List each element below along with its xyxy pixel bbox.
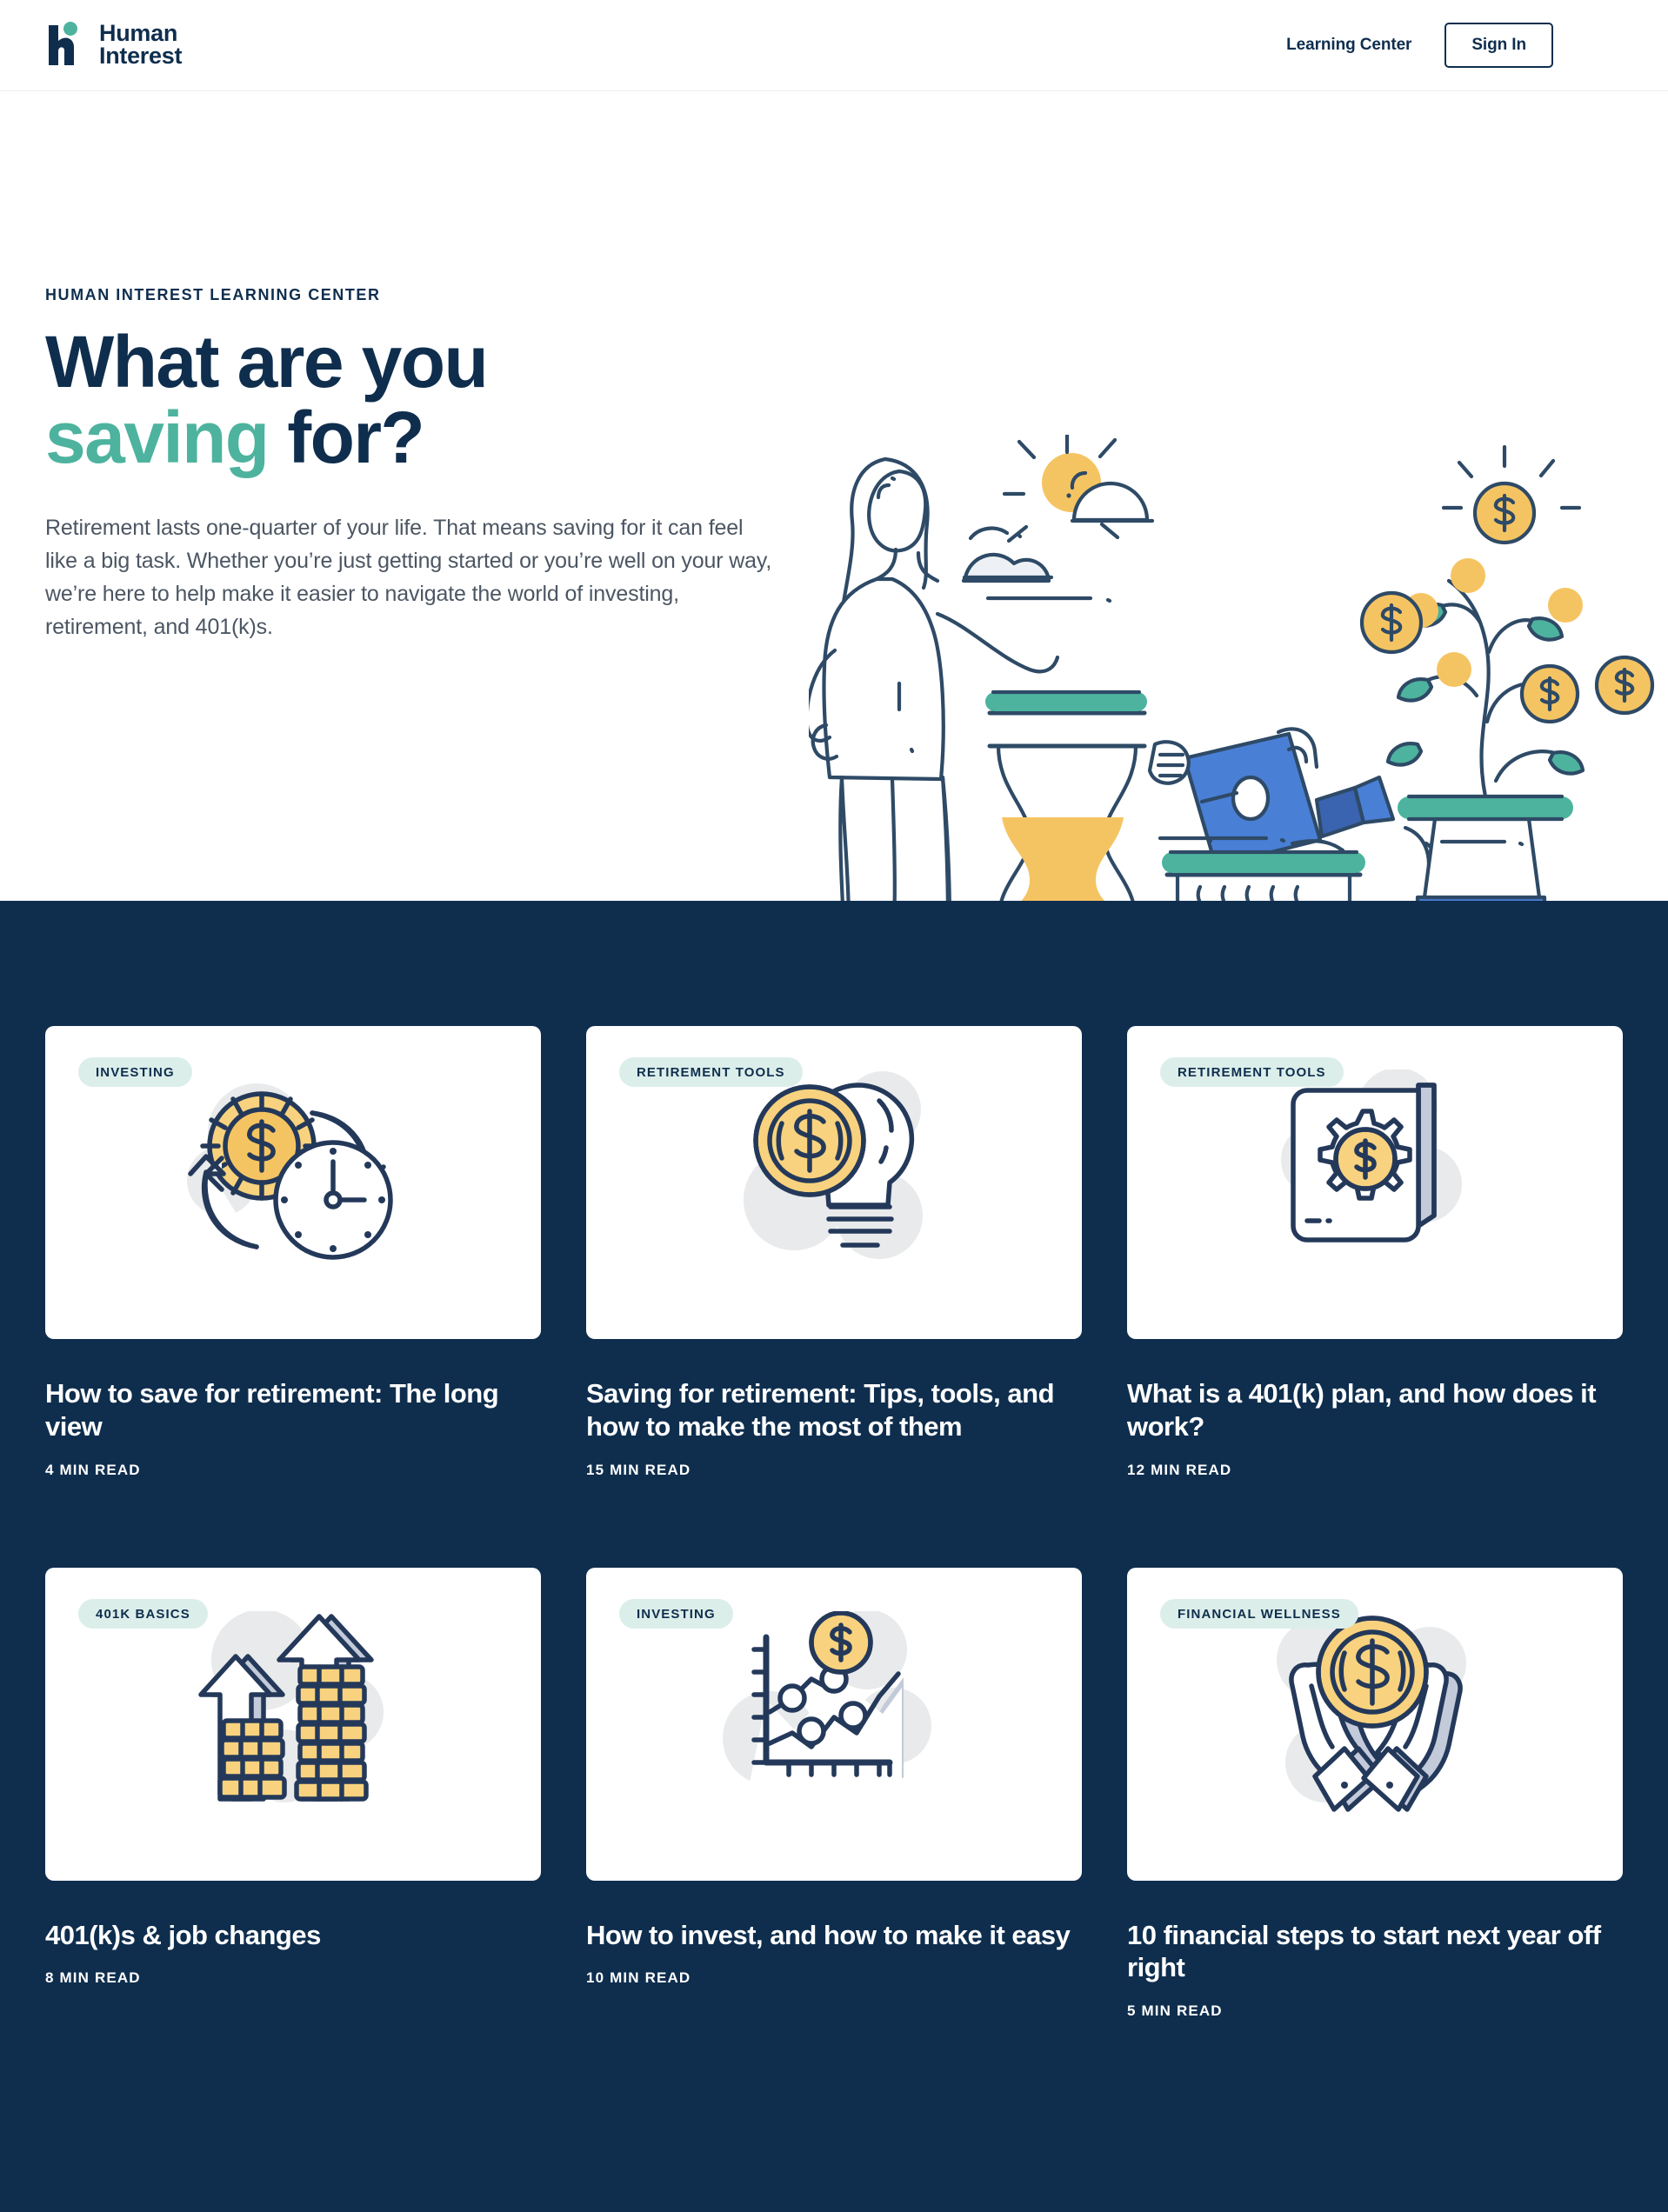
header-actions: Learning Center Sign In [1286,23,1553,68]
category-badge[interactable]: RETIREMENT TOOLS [619,1057,803,1087]
article-thumbnail: RETIREMENT TOOLS [586,1026,1082,1339]
article-read-time: 12 MIN READ [1127,1462,1623,1479]
category-badge[interactable]: INVESTING [619,1599,733,1629]
category-badge[interactable]: INVESTING [78,1057,192,1087]
article-card[interactable]: INVESTING [586,1568,1082,2021]
grid-row-spacer [45,1479,1623,1568]
woman-watering-money-plant-illustration [809,435,1668,901]
article-card[interactable]: RETIREMENT TOOLS [586,1026,1082,1479]
blueprint-gear-coin-icon [1253,1069,1497,1261]
logo-wordmark: Human Interest [99,23,182,68]
logo-line-2: Interest [99,45,182,68]
article-thumbnail: INVESTING [586,1568,1082,1881]
hero-section: HUMAN INTEREST LEARNING CENTER What are … [0,91,1668,901]
line-chart-coin-icon [712,1611,956,1811]
article-read-time: 15 MIN READ [586,1462,1082,1479]
hero-copy: HUMAN INTEREST LEARNING CENTER What are … [45,286,793,643]
category-badge[interactable]: FINANCIAL WELLNESS [1160,1599,1358,1629]
article-card[interactable]: RETIREMENT TOOLS [1127,1026,1623,1479]
logo-home-link[interactable]: Human Interest [45,20,182,70]
articles-grid-row-1: INVESTING [45,1026,1623,1479]
article-title[interactable]: What is a 401(k) plan, and how does it w… [1127,1377,1623,1443]
article-title[interactable]: How to invest, and how to make it easy [586,1919,1082,1952]
article-read-time: 10 MIN READ [586,1969,1082,1987]
hands-holding-coin-icon [1258,1611,1492,1820]
article-title[interactable]: Saving for retirement: Tips, tools, and … [586,1377,1082,1443]
nav-link-learning-center[interactable]: Learning Center [1286,36,1411,55]
article-read-time: 5 MIN READ [1127,2002,1623,2020]
article-thumbnail: 401K BASICS [45,1568,541,1881]
article-card[interactable]: FINANCIAL WELLNESS [1127,1568,1623,2021]
coin-lightbulb-icon [712,1069,956,1278]
article-read-time: 8 MIN READ [45,1969,541,1987]
article-thumbnail: INVESTING [45,1026,541,1339]
hero-paragraph: Retirement lasts one-quarter of your lif… [45,511,780,643]
articles-grid-row-2: 401K BASICS [45,1568,1623,2021]
article-read-time: 4 MIN READ [45,1462,541,1479]
article-thumbnail: FINANCIAL WELLNESS [1127,1568,1623,1881]
article-card[interactable]: 401K BASICS [45,1568,541,2021]
category-badge[interactable]: RETIREMENT TOOLS [1160,1057,1344,1087]
page-title: What are you saving for? [45,324,793,475]
hero-eyebrow: HUMAN INTEREST LEARNING CENTER [45,286,793,304]
category-badge[interactable]: 401K BASICS [78,1599,208,1629]
article-card[interactable]: INVESTING [45,1026,541,1479]
coin-clock-cycle-icon [163,1069,424,1269]
site-header: Human Interest Learning Center Sign In [0,0,1668,91]
sign-in-button[interactable]: Sign In [1444,23,1553,68]
articles-section: INVESTING [0,901,1668,2212]
headline-part-1: What are you [45,321,487,403]
article-title[interactable]: 10 financial steps to start next year of… [1127,1919,1623,1985]
headline-accent-word: saving [45,396,269,478]
headline-part-2: for? [269,396,424,478]
article-thumbnail: RETIREMENT TOOLS [1127,1026,1623,1339]
article-title[interactable]: How to save for retirement: The long vie… [45,1377,541,1443]
article-title[interactable]: 401(k)s & job changes [45,1919,541,1952]
human-interest-logo-icon [45,20,85,70]
coin-stacks-growth-arrows-icon [171,1611,415,1820]
